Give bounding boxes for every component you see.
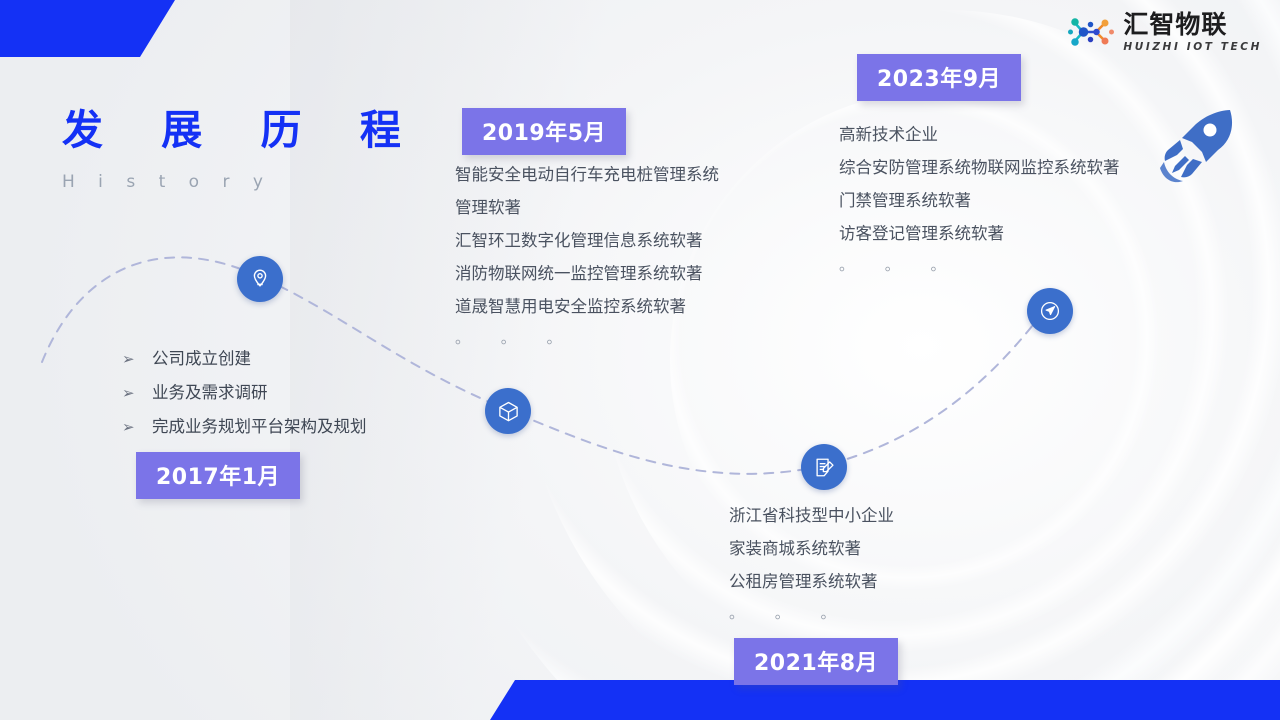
milestone-2021-item-0: 浙江省科技型中小企业 — [729, 499, 894, 532]
milestone-2017-item-1: 业务及需求调研 — [152, 376, 268, 410]
rocket-icon — [1158, 106, 1238, 192]
top-left-accent-shape — [0, 0, 175, 57]
milestone-2019-item-1: 管理软著 — [455, 191, 719, 224]
milestone-2023-item-1: 综合安防管理系统物联网监控系统软著 — [839, 151, 1120, 184]
milestone-2019-item-0: 智能安全电动自行车充电桩管理系统 — [455, 158, 719, 191]
bullet-arrow-icon: ➢ — [122, 342, 134, 376]
list-item: ➢ 业务及需求调研 — [122, 376, 367, 410]
bullet-arrow-icon: ➢ — [122, 410, 134, 444]
cube-icon — [497, 400, 520, 423]
milestone-2017-item-0: 公司成立创建 — [152, 342, 251, 376]
list-item: ➢ 完成业务规划平台架构及规划 — [122, 410, 367, 444]
logo-company-tagline: HUIZHI IOT TECH — [1123, 42, 1262, 53]
milestone-2017-item-2: 完成业务规划平台架构及规划 — [152, 410, 367, 444]
paper-plane-icon — [1038, 299, 1062, 323]
milestone-2023-items: 高新技术企业 综合安防管理系统物联网监控系统软著 门禁管理系统软著 访客登记管理… — [839, 118, 1120, 280]
milestone-2021-item-2: 公租房管理系统软著 — [729, 565, 894, 598]
milestone-2023-badge[interactable]: 2023年9月 — [857, 54, 1021, 101]
milestone-2023-item-2: 门禁管理系统软著 — [839, 184, 1120, 217]
milestone-2019-ellipsis: 。 。 。 — [455, 323, 719, 353]
page-title: 发 展 历 程 — [62, 96, 423, 156]
milestone-2021-badge[interactable]: 2021年8月 — [734, 638, 898, 685]
milestone-2023-item-3: 访客登记管理系统软著 — [839, 217, 1120, 250]
list-item: ➢ 公司成立创建 — [122, 342, 367, 376]
milestone-2021-items: 浙江省科技型中小企业 家装商城系统软著 公租房管理系统软著 。 。 。 — [729, 499, 894, 628]
document-edit-icon — [813, 456, 836, 479]
milestone-2023-ellipsis: 。 。 。 — [839, 250, 1120, 280]
milestone-2019-item-2: 汇智环卫数字化管理信息系统软著 — [455, 224, 719, 257]
milestone-2019-item-4: 道晟智慧用电安全监控系统软著 — [455, 290, 719, 323]
timeline-node-2021[interactable] — [801, 444, 847, 490]
milestone-2021-ellipsis: 。 。 。 — [729, 598, 894, 628]
page-title-group: 发 展 历 程 H i s t o r y — [62, 96, 423, 192]
bullet-arrow-icon: ➢ — [122, 376, 134, 410]
milestone-2019-badge[interactable]: 2019年5月 — [462, 108, 626, 155]
milestone-2023-item-0: 高新技术企业 — [839, 118, 1120, 151]
timeline-node-2023[interactable] — [1027, 288, 1073, 334]
milestone-2017-items: ➢ 公司成立创建 ➢ 业务及需求调研 ➢ 完成业务规划平台架构及规划 — [122, 342, 367, 444]
timeline-node-2019[interactable] — [485, 388, 531, 434]
milestone-2019-items: 智能安全电动自行车充电桩管理系统 管理软著 汇智环卫数字化管理信息系统软著 消防… — [455, 158, 719, 353]
page-subtitle: H i s t o r y — [62, 172, 423, 192]
milestone-2017-badge[interactable]: 2017年1月 — [136, 452, 300, 499]
location-pin-icon — [248, 267, 272, 291]
slide-canvas: 汇智物联 HUIZHI IOT TECH 发 展 历 程 H i s t o r… — [0, 0, 1280, 720]
molecule-network-icon — [1068, 15, 1114, 49]
bottom-right-accent-shape — [450, 680, 1280, 720]
logo-company-name: 汇智物联 — [1123, 12, 1262, 37]
timeline-node-2017[interactable] — [237, 256, 283, 302]
milestone-2019-item-3: 消防物联网统一监控管理系统软著 — [455, 257, 719, 290]
company-logo: 汇智物联 HUIZHI IOT TECH — [1068, 12, 1262, 53]
milestone-2021-item-1: 家装商城系统软著 — [729, 532, 894, 565]
